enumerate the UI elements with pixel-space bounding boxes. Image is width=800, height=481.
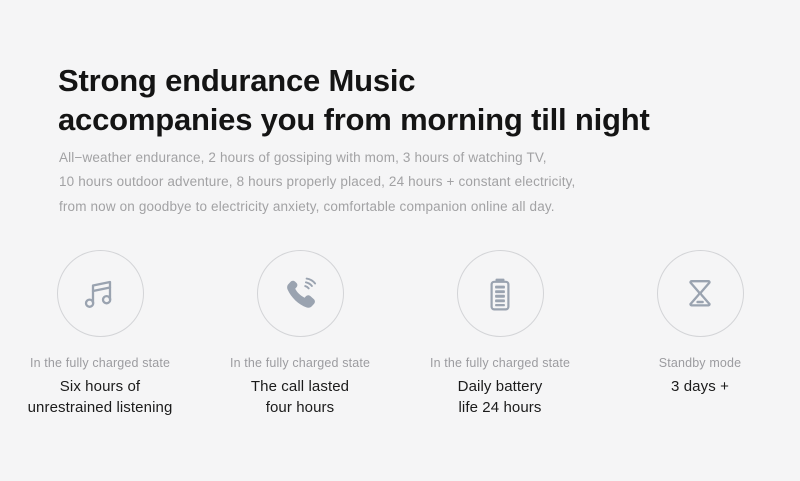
feature-icon-circle [457, 250, 544, 337]
description-paragraph: All−weather endurance, 2 hours of gossip… [59, 146, 699, 220]
feature-item-standby: Standby mode 3 days + [600, 250, 800, 397]
feature-item-listening: In the fully charged state Six hours of … [0, 250, 200, 418]
feature-icon-circle [57, 250, 144, 337]
feature-caption-main: The call lasted four hours [251, 376, 349, 418]
feature-caption-top: Standby mode [659, 355, 741, 371]
promo-page: Strong endurance Music accompanies you f… [0, 0, 800, 481]
battery-icon [479, 273, 521, 315]
feature-item-battery: In the fully charged state Daily battery… [400, 250, 600, 418]
feature-caption-top: In the fully charged state [230, 355, 370, 371]
feature-caption-top: In the fully charged state [30, 355, 170, 371]
hourglass-icon [679, 273, 721, 315]
feature-caption-main: 3 days + [671, 376, 729, 397]
feature-icon-circle [657, 250, 744, 337]
feature-caption-main: Six hours of unrestrained listening [28, 376, 173, 418]
feature-caption-main: Daily battery life 24 hours [458, 376, 543, 418]
music-note-icon [79, 273, 121, 315]
feature-icon-circle [257, 250, 344, 337]
page-title: Strong endurance Music accompanies you f… [58, 61, 758, 139]
feature-caption-top: In the fully charged state [430, 355, 570, 371]
phone-call-icon [279, 273, 321, 315]
feature-item-call: In the fully charged state The call last… [200, 250, 400, 418]
feature-list: In the fully charged state Six hours of … [0, 250, 800, 418]
